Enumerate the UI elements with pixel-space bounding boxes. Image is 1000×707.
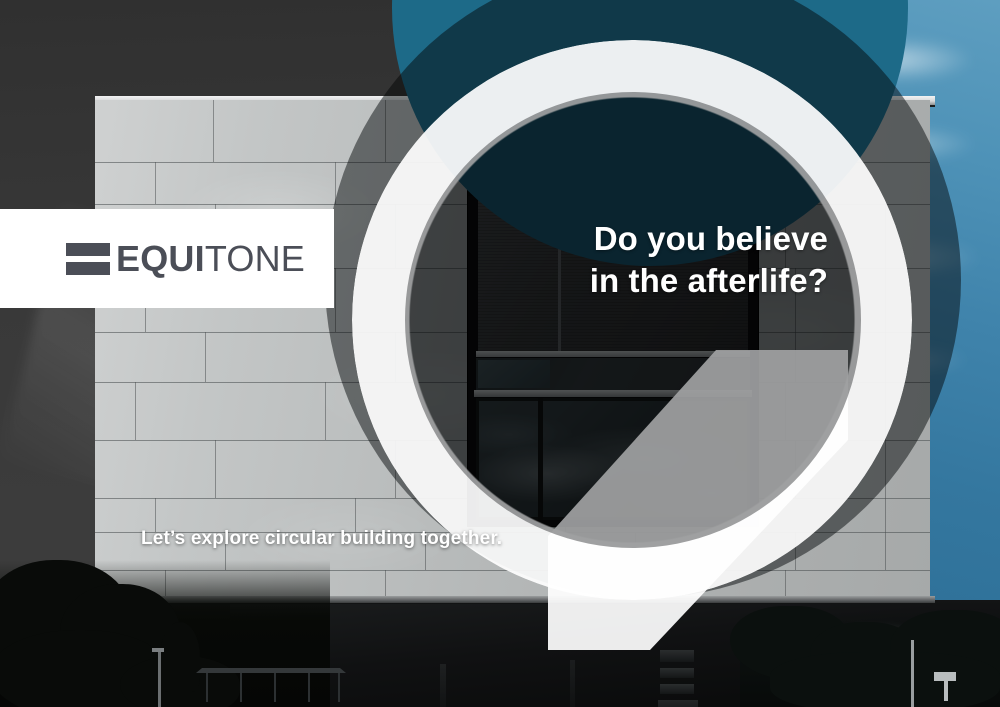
wordmark-light: TONE [205, 238, 305, 279]
q-inner-shade [405, 92, 861, 548]
pergola-structure [196, 668, 346, 702]
wordmark-bold: EQUI [116, 238, 205, 279]
lamp-post [158, 650, 161, 707]
logo-bar-top [66, 243, 110, 256]
headline-line-2: in the afterlife? [590, 260, 828, 302]
campaign-visual: EQUITONE Do you believe in the afterlife… [0, 0, 1000, 707]
headline: Do you believe in the afterlife? [590, 218, 828, 301]
sign-post [944, 681, 948, 701]
equitone-logo-plate[interactable]: EQUITONE [0, 209, 334, 308]
headline-line-1: Do you believe [590, 218, 828, 260]
street-sign [934, 672, 956, 681]
equitone-bars-mark-icon [66, 243, 110, 275]
tagline: Let’s explore circular building together… [141, 528, 502, 550]
street-pole [911, 640, 914, 707]
lamp-head [152, 648, 164, 652]
equitone-wordmark: EQUITONE [116, 241, 305, 277]
logo-bar-bottom [66, 262, 110, 275]
tree-line-right [740, 612, 1000, 707]
